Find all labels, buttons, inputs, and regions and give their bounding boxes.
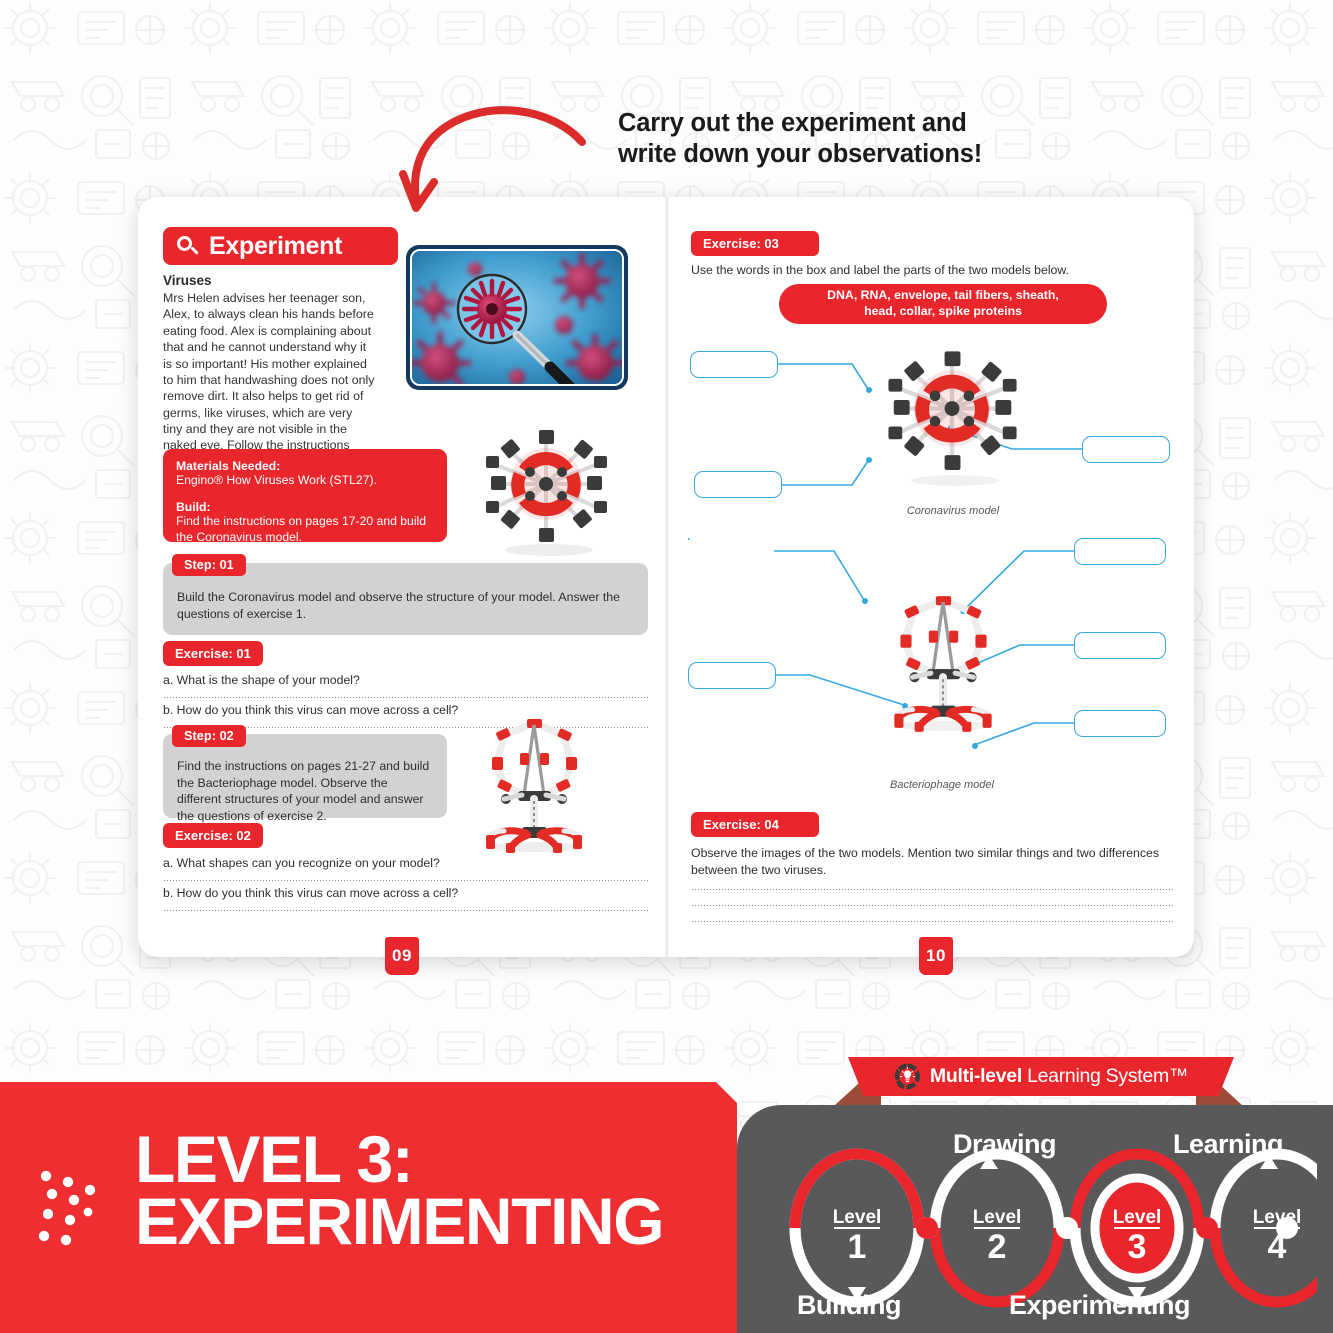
mls-ribbon: Multi-level Learning System™ bbox=[848, 1057, 1234, 1096]
level-4-number: 4 bbox=[1268, 1228, 1287, 1266]
word-bank-line-2: head, collar, spike proteins bbox=[864, 304, 1022, 320]
level-1-name: Building bbox=[797, 1290, 901, 1321]
level-2-label: Level bbox=[973, 1207, 1022, 1228]
answer-line[interactable] bbox=[691, 921, 1173, 922]
label-box[interactable] bbox=[688, 538, 690, 540]
answer-line[interactable] bbox=[691, 889, 1173, 890]
answer-line[interactable] bbox=[163, 697, 648, 698]
worksheet-spread: Experiment Viruses Mrs Helen advises her… bbox=[138, 197, 1194, 957]
level-title-line-2: EXPERIMENTING bbox=[135, 1190, 663, 1252]
figure-caption: Bacteriophage model bbox=[862, 779, 1022, 791]
lightbulb-recycle-icon bbox=[894, 1063, 921, 1090]
bacteriophage-model-image bbox=[868, 547, 1018, 779]
right-page: Exercise: 03 Use the words in the box an… bbox=[666, 197, 1194, 957]
callout: Carry out the experiment and write down … bbox=[618, 108, 982, 170]
materials-needed-box: Materials Needed: Engino® How Viruses Wo… bbox=[163, 449, 447, 542]
materials-text: Engino® How Viruses Work (STL27). bbox=[176, 473, 434, 489]
levels-graphic: Level 1 Level 2 Level 3 Level 4 Drawing … bbox=[777, 1125, 1317, 1330]
label-box[interactable] bbox=[1082, 436, 1170, 463]
multi-level-learning-panel: Level 1 Level 2 Level 3 Level 4 Drawing … bbox=[737, 1105, 1333, 1333]
virus-microscope-photo bbox=[406, 245, 628, 390]
label-box[interactable] bbox=[1074, 710, 1166, 737]
section-title: Viruses bbox=[163, 273, 212, 288]
level-1-number: 1 bbox=[848, 1228, 867, 1266]
level-title-line-1: LEVEL 3: bbox=[135, 1128, 663, 1190]
exercise-01-question-a: a. What is the shape of your model? bbox=[163, 673, 360, 687]
exercise-02-question-b: b. How do you think this virus can move … bbox=[163, 886, 458, 900]
word-bank-line-1: DNA, RNA, envelope, tail fibers, sheath, bbox=[827, 288, 1059, 304]
answer-line[interactable] bbox=[163, 880, 648, 881]
step-02-text: Find the instructions on pages 21-27 and… bbox=[177, 758, 435, 824]
exercise-02-tag: Exercise: 02 bbox=[163, 823, 263, 848]
step-01-tag: Step: 01 bbox=[172, 554, 246, 576]
label-box[interactable] bbox=[694, 471, 782, 498]
word-bank-box: DNA, RNA, envelope, tail fibers, sheath,… bbox=[779, 284, 1107, 324]
build-text: Find the instructions on pages 17-20 and… bbox=[176, 514, 434, 546]
step-02-tag: Step: 02 bbox=[172, 725, 246, 747]
build-heading: Build: bbox=[176, 500, 434, 514]
page-number-right: 10 bbox=[919, 937, 953, 975]
page-number-left: 09 bbox=[385, 937, 419, 975]
coronavirus-labelling-figure: Coronavirus model bbox=[682, 337, 1178, 537]
callout-arrow-icon bbox=[392, 100, 592, 220]
dot-pattern-decoration bbox=[38, 1168, 120, 1250]
callout-line-2: write down your observations! bbox=[618, 139, 982, 170]
left-page: Experiment Viruses Mrs Helen advises her… bbox=[138, 197, 666, 957]
mls-ribbon-rest: Learning System™ bbox=[1022, 1065, 1188, 1087]
label-box[interactable] bbox=[690, 351, 778, 378]
level-3-number: 3 bbox=[1128, 1228, 1147, 1266]
experiment-header: Experiment bbox=[163, 227, 398, 265]
level-2-number: 2 bbox=[988, 1228, 1007, 1266]
answer-line[interactable] bbox=[163, 910, 648, 911]
level-3-label: Level bbox=[1113, 1207, 1162, 1228]
exercise-04-tag: Exercise: 04 bbox=[691, 812, 819, 837]
banner-corner-notch bbox=[716, 1082, 738, 1104]
experiment-header-label: Experiment bbox=[209, 232, 342, 261]
label-box[interactable] bbox=[1074, 632, 1166, 659]
level-title: LEVEL 3: EXPERIMENTING bbox=[135, 1128, 663, 1252]
callout-line-1: Carry out the experiment and bbox=[618, 108, 982, 139]
exercise-04-instruction: Observe the images of the two models. Me… bbox=[691, 845, 1173, 878]
coronavirus-model-image bbox=[461, 422, 631, 562]
step-02-box: Step: 02 Find the instructions on pages … bbox=[163, 734, 447, 818]
figure-caption: Coronavirus model bbox=[868, 505, 1038, 517]
label-box[interactable] bbox=[688, 662, 776, 689]
level-1-label: Level bbox=[833, 1207, 882, 1228]
step-01-box: Step: 01 Build the Coronavirus model and… bbox=[163, 563, 648, 635]
coronavirus-model-image bbox=[862, 337, 1042, 497]
level-3-name: Experimenting bbox=[1009, 1290, 1190, 1321]
exercise-03-instruction: Use the words in the box and label the p… bbox=[691, 263, 1161, 277]
level-2-name: Drawing bbox=[953, 1129, 1056, 1160]
exercise-03-tag: Exercise: 03 bbox=[691, 231, 819, 256]
step-01-text: Build the Coronavirus model and observe … bbox=[177, 589, 633, 622]
materials-heading: Materials Needed: bbox=[176, 459, 434, 473]
bacteriophage-labelling-figure: Bacteriophage model bbox=[682, 527, 1178, 807]
bacteriophage-model-image bbox=[460, 715, 608, 855]
answer-line[interactable] bbox=[691, 905, 1173, 906]
level-4-label: Level bbox=[1253, 1207, 1302, 1228]
exercise-01-tag: Exercise: 01 bbox=[163, 641, 263, 666]
label-box[interactable] bbox=[1074, 538, 1166, 565]
search-icon bbox=[177, 236, 198, 257]
level-4-name: Learning bbox=[1173, 1129, 1283, 1160]
mls-ribbon-bold: Multi-level bbox=[930, 1065, 1022, 1087]
exercise-02-question-a: a. What shapes can you recognize on your… bbox=[163, 856, 440, 870]
mls-ribbon-text: Multi-level Learning System™ bbox=[930, 1065, 1188, 1088]
exercise-01-question-b: b. How do you think this virus can move … bbox=[163, 703, 458, 717]
